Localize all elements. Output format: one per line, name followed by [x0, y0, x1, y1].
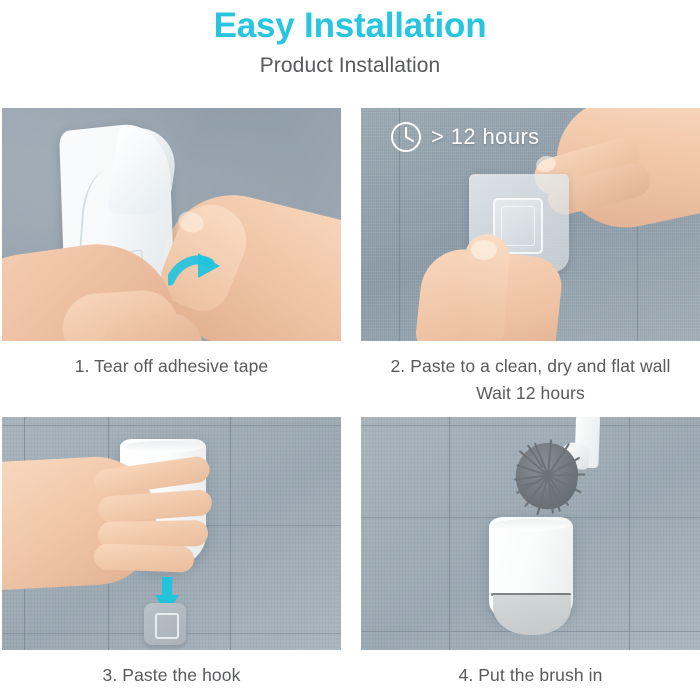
mounted-brush-holder [489, 517, 573, 623]
clock-icon [389, 120, 423, 154]
step-2-caption: 2. Paste to a clean, dry and flat wall W… [361, 341, 700, 407]
step-3-cell [2, 417, 341, 650]
column-gap [341, 108, 361, 341]
wall-hook [144, 603, 186, 645]
caption-line-1: 3. Paste the hook [2, 662, 341, 689]
steps-row-bottom [2, 417, 700, 650]
caption-line-1: 2. Paste to a clean, dry and flat wall [361, 353, 700, 380]
captions-row-bottom: 3. Paste the hook 4. Put the brush in [2, 650, 700, 689]
step-1-caption: 1. Tear off adhesive tape [2, 341, 341, 407]
step-3-photo [2, 417, 341, 650]
captions-row-top: 1. Tear off adhesive tape 2. Paste to a … [2, 341, 700, 407]
step-2-photo: > 12 hours [361, 108, 700, 341]
header: Easy Installation Product Installation [0, 0, 700, 78]
step-4-cell [361, 417, 700, 650]
caption-line-2: Wait 12 hours [361, 380, 700, 407]
steps-row-top: > 12 hours [2, 108, 700, 341]
caption-line-1: 4. Put the brush in [361, 662, 700, 689]
caption-line-1: 1. Tear off adhesive tape [2, 353, 341, 380]
finger [94, 544, 195, 573]
column-gap [341, 650, 361, 689]
step-4-caption: 4. Put the brush in [361, 650, 700, 689]
hook-plate [155, 613, 179, 639]
curved-arrow-icon [168, 251, 224, 291]
grout-line-vertical [629, 417, 630, 650]
column-gap [341, 417, 361, 650]
grout-line-horizontal [2, 425, 341, 426]
grout-line-vertical [230, 417, 231, 650]
step-1-photo [2, 108, 341, 341]
grout-line-vertical [449, 417, 450, 650]
step-3-caption: 3. Paste the hook [2, 650, 341, 689]
wait-time-badge: > 12 hours [389, 120, 540, 154]
fingernail [471, 240, 497, 260]
steps-grid: > 12 hours 1. Tear off adhesive tape 2. … [2, 108, 700, 689]
column-gap [341, 341, 361, 407]
step-2-cell: > 12 hours [361, 108, 700, 341]
holder-rim [493, 519, 569, 531]
installation-infographic: Easy Installation Product Installation [0, 0, 700, 700]
holder-rim [124, 441, 202, 453]
step-4-photo [361, 417, 700, 650]
page-title: Easy Installation [0, 0, 700, 46]
wait-time-text: > 12 hours [431, 124, 540, 150]
page-subtitle: Product Installation [0, 46, 700, 78]
step-1-cell [2, 108, 341, 341]
